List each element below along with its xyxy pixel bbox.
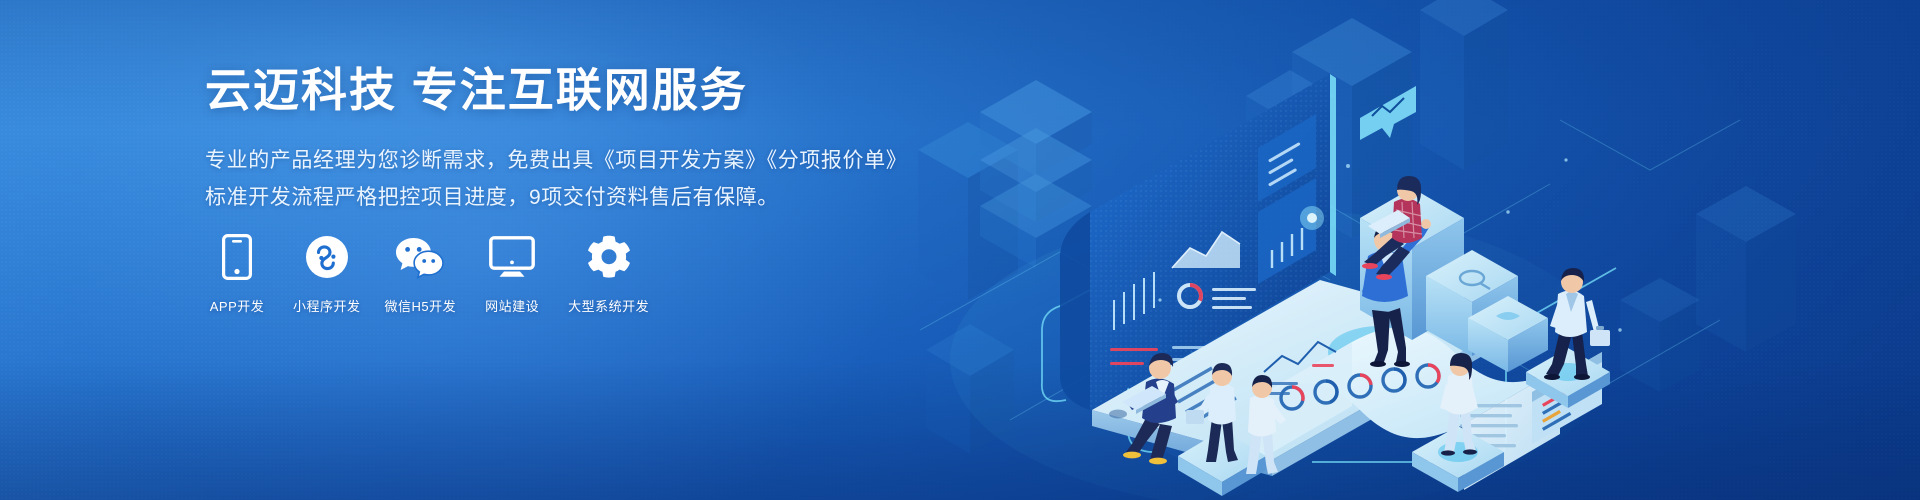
service-label-large-system: 大型系统开发 [568, 296, 649, 315]
page-title: 云迈科技 专注互联网服务 [205, 62, 925, 120]
subtitle-line-2: 标准开发流程严格把控项目进度，9项交付资料售后有保障。 [205, 179, 925, 216]
banner-copy: 云迈科技 专注互联网服务 专业的产品经理为您诊断需求，免费出具《项目开发方案》《… [205, 62, 925, 216]
service-label-app: APP开发 [210, 296, 265, 315]
gear-icon [577, 232, 641, 282]
promo-banner: 云迈科技 专注互联网服务 专业的产品经理为您诊断需求，免费出具《项目开发方案》《… [0, 0, 1920, 500]
wechat-bubbles-icon [388, 232, 452, 282]
service-item-wechat-h5[interactable]: 微信H5开发 [385, 232, 457, 315]
service-item-large-system[interactable]: 大型系统开发 [568, 232, 649, 315]
mini-program-icon [295, 232, 359, 282]
service-item-mini-program[interactable]: 小程序开发 [293, 232, 361, 315]
service-list: APP开发 小程序开发 [205, 232, 649, 315]
service-label-wechat-h5: 微信H5开发 [385, 296, 457, 315]
mobile-phone-icon [205, 232, 269, 282]
service-label-mini-program: 小程序开发 [293, 296, 361, 315]
service-item-app[interactable]: APP开发 [205, 232, 269, 315]
illustration-svg [860, 0, 1920, 500]
service-item-website[interactable]: 网站建设 [480, 232, 544, 315]
service-label-website: 网站建设 [485, 296, 539, 315]
monitor-icon [480, 232, 544, 282]
isometric-tech-illustration [860, 0, 1920, 500]
subtitle-line-1: 专业的产品经理为您诊断需求，免费出具《项目开发方案》《分项报价单》 [205, 142, 925, 179]
